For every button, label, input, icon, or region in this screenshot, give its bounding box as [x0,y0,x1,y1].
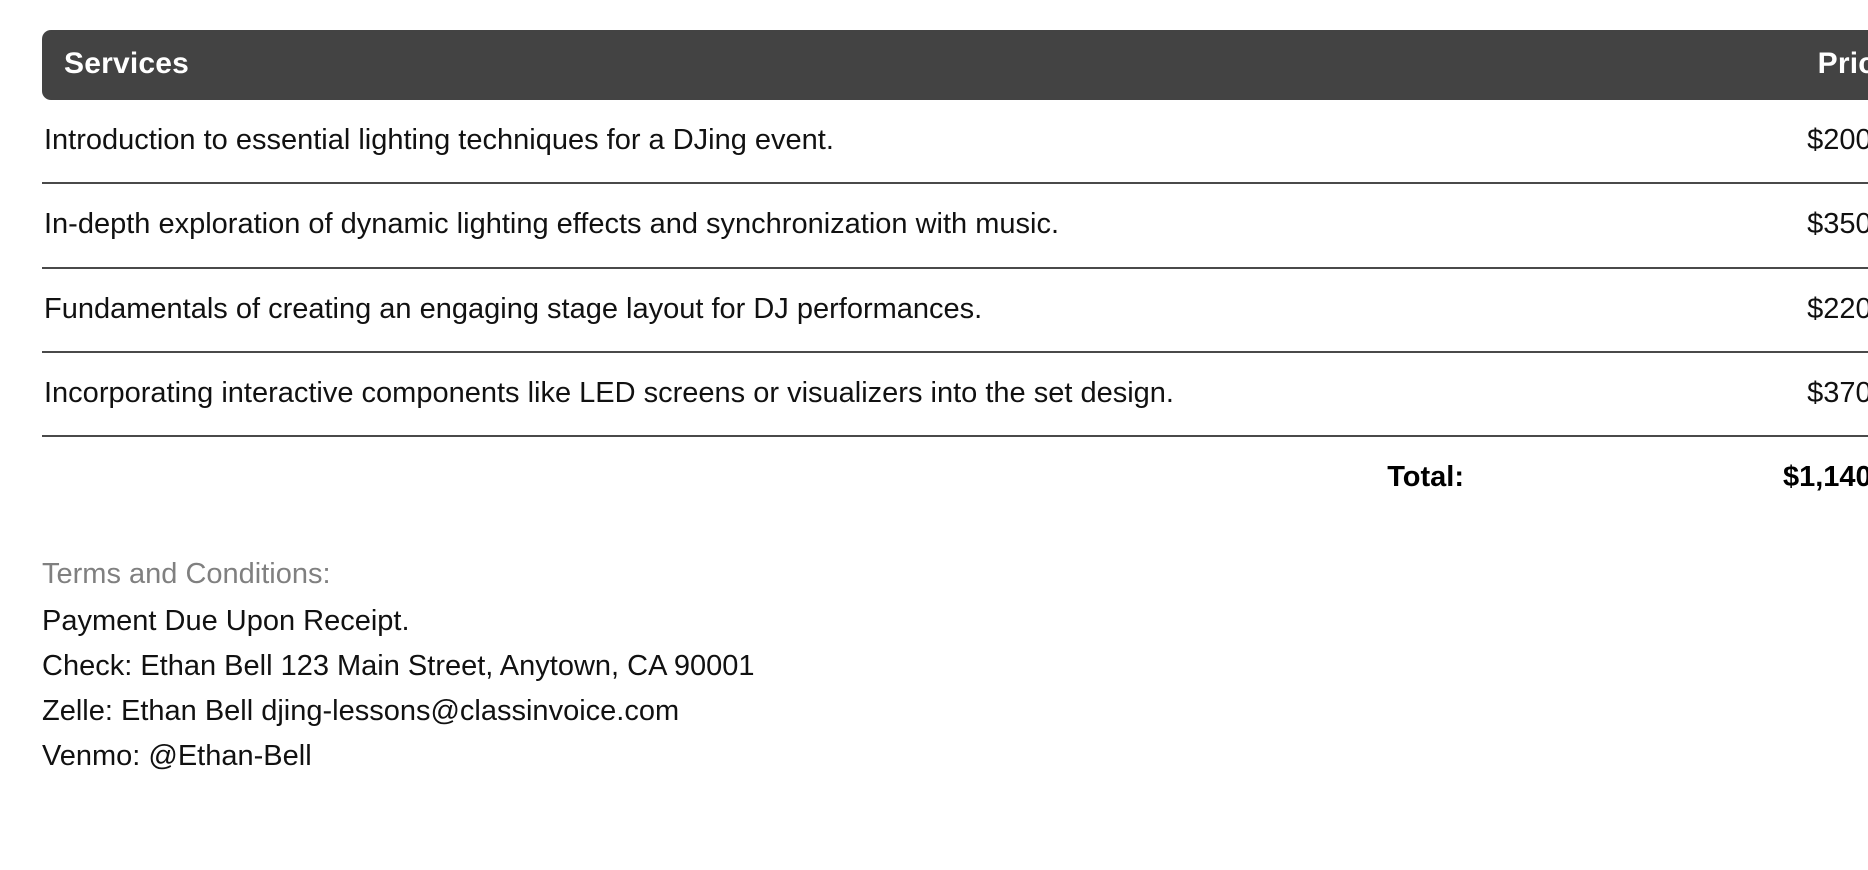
table-header-row: Services Price [42,30,1868,100]
table-header: Services Price [42,30,1868,100]
terms-line-payment-due: Payment Due Upon Receipt. [42,599,1826,644]
terms-line-venmo: Venmo: @Ethan-Bell [42,734,1826,779]
service-price: $200.00 [1516,100,1868,183]
service-price: $350.00 [1516,183,1868,267]
table-body: Introduction to essential lighting techn… [42,100,1868,500]
terms-line-zelle: Zelle: Ethan Bell djing-lessons@classinv… [42,689,1826,734]
total-amount: $1,140.00 [1516,436,1868,500]
column-header-services: Services [42,30,1516,100]
table-row: Incorporating interactive components lik… [42,352,1868,436]
total-label: Total: [42,436,1516,500]
service-description: Incorporating interactive components lik… [42,352,1516,436]
invoice-services-sheet: Services Price Introduction to essential… [0,0,1868,870]
table-row: In-depth exploration of dynamic lighting… [42,183,1868,267]
terms-heading: Terms and Conditions: [42,552,1826,598]
service-price: $370.00 [1516,352,1868,436]
service-description: In-depth exploration of dynamic lighting… [42,183,1516,267]
table-row: Introduction to essential lighting techn… [42,100,1868,183]
service-price: $220.00 [1516,268,1868,352]
service-description: Introduction to essential lighting techn… [42,100,1516,183]
table-row: Fundamentals of creating an engaging sta… [42,268,1868,352]
services-price-table: Services Price Introduction to essential… [42,30,1868,500]
column-header-price: Price [1516,30,1868,100]
terms-line-check: Check: Ethan Bell 123 Main Street, Anyto… [42,644,1826,689]
table-total-row: Total: $1,140.00 [42,436,1868,500]
service-description: Fundamentals of creating an engaging sta… [42,268,1516,352]
terms-and-conditions-block: Terms and Conditions: Payment Due Upon R… [42,552,1826,779]
